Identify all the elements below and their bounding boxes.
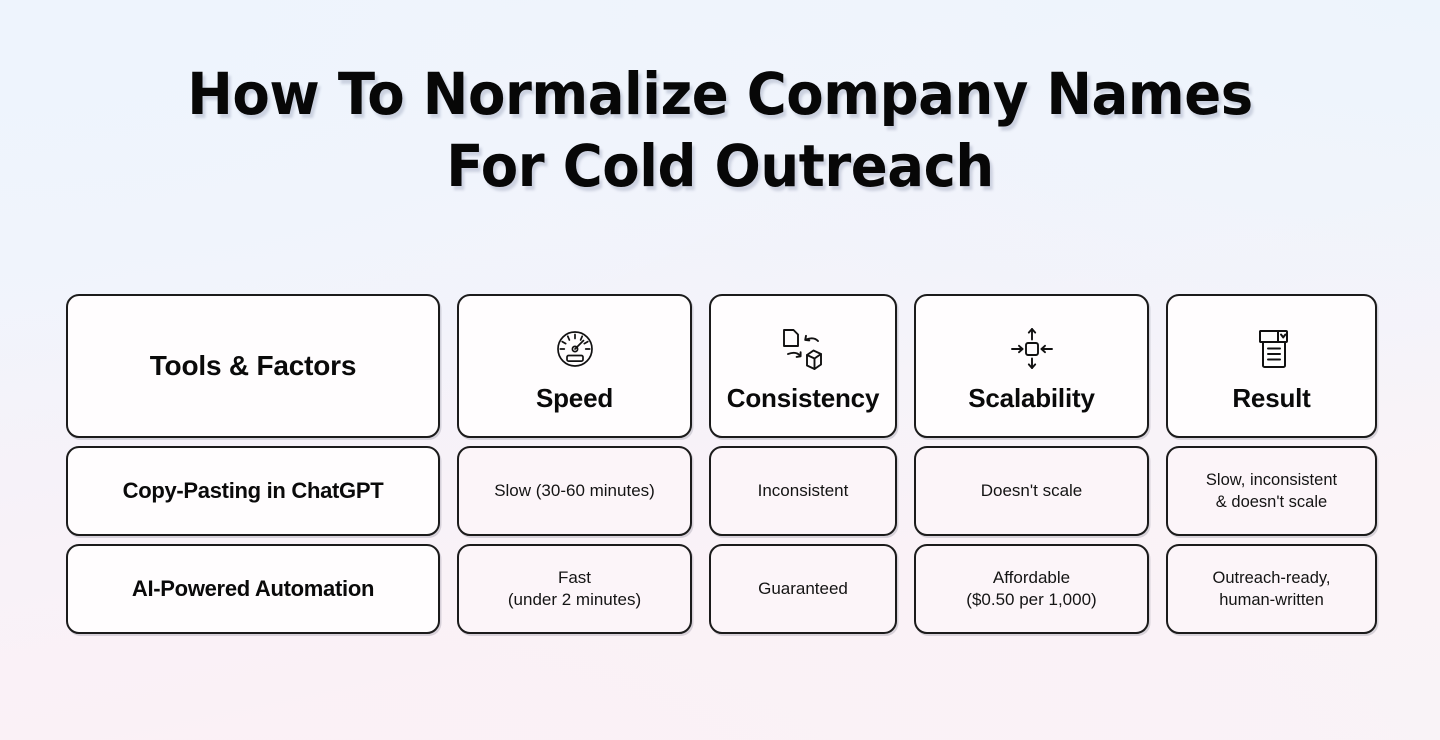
table-header-cell-result: Result xyxy=(1166,294,1377,438)
cell-value-line: Inconsistent xyxy=(758,480,849,502)
cell-value-line: human-written xyxy=(1219,589,1324,611)
cell-value-line: Guaranteed xyxy=(758,578,848,600)
page-title-line-1: How To Normalize Company Names xyxy=(43,58,1397,130)
page-title-line-2: For Cold Outreach xyxy=(43,130,1397,202)
table-row: Copy-Pasting in ChatGPT Slow (30-60 minu… xyxy=(66,446,1374,536)
speedometer-icon xyxy=(551,319,599,373)
cell-value-line: Fast xyxy=(558,567,591,589)
table-header-cell-consistency: Consistency xyxy=(709,294,897,438)
row-label: AI-Powered Automation xyxy=(132,576,374,602)
cell-result: Slow, inconsistent & doesn't scale xyxy=(1166,446,1377,536)
row-label-cell: Copy-Pasting in ChatGPT xyxy=(66,446,440,536)
table-header-corner-cell: Tools & Factors xyxy=(66,294,440,438)
cell-value-line: Outreach-ready, xyxy=(1213,567,1331,589)
cell-value-line: Doesn't scale xyxy=(981,480,1083,502)
cell-value-line: (under 2 minutes) xyxy=(508,589,641,611)
cell-value-line: & doesn't scale xyxy=(1216,491,1327,513)
cell-speed: Slow (30-60 minutes) xyxy=(457,446,692,536)
comparison-table: Tools & Factors Speed xyxy=(66,294,1374,634)
cell-result: Outreach-ready, human-written xyxy=(1166,544,1377,634)
table-header-cell-speed: Speed xyxy=(457,294,692,438)
cell-scalability: Doesn't scale xyxy=(914,446,1149,536)
cell-speed: Fast (under 2 minutes) xyxy=(457,544,692,634)
cell-value-line: Slow (30-60 minutes) xyxy=(494,480,655,502)
cell-scalability: Affordable ($0.50 per 1,000) xyxy=(914,544,1149,634)
column-label-consistency: Consistency xyxy=(727,383,879,414)
tools-and-factors-label: Tools & Factors xyxy=(150,350,357,382)
cell-value-line: Slow, inconsistent xyxy=(1206,469,1337,491)
table-header-cell-scalability: Scalability xyxy=(914,294,1149,438)
document-to-cube-transform-icon xyxy=(776,319,830,373)
column-label-scalability: Scalability xyxy=(968,383,1094,414)
scale-arrows-icon xyxy=(1004,319,1060,373)
page-title: How To Normalize Company Names For Cold … xyxy=(0,58,1440,202)
row-label: Copy-Pasting in ChatGPT xyxy=(123,478,384,504)
cell-consistency: Guaranteed xyxy=(709,544,897,634)
table-row: AI-Powered Automation Fast (under 2 minu… xyxy=(66,544,1374,634)
row-label-cell: AI-Powered Automation xyxy=(66,544,440,634)
cell-consistency: Inconsistent xyxy=(709,446,897,536)
cell-value-line: Affordable xyxy=(993,567,1070,589)
table-header-row: Tools & Factors Speed xyxy=(66,294,1374,438)
column-label-result: Result xyxy=(1232,383,1310,414)
cell-value-line: ($0.50 per 1,000) xyxy=(966,589,1096,611)
document-form-dropdown-icon xyxy=(1247,319,1297,373)
column-label-speed: Speed xyxy=(536,383,613,414)
